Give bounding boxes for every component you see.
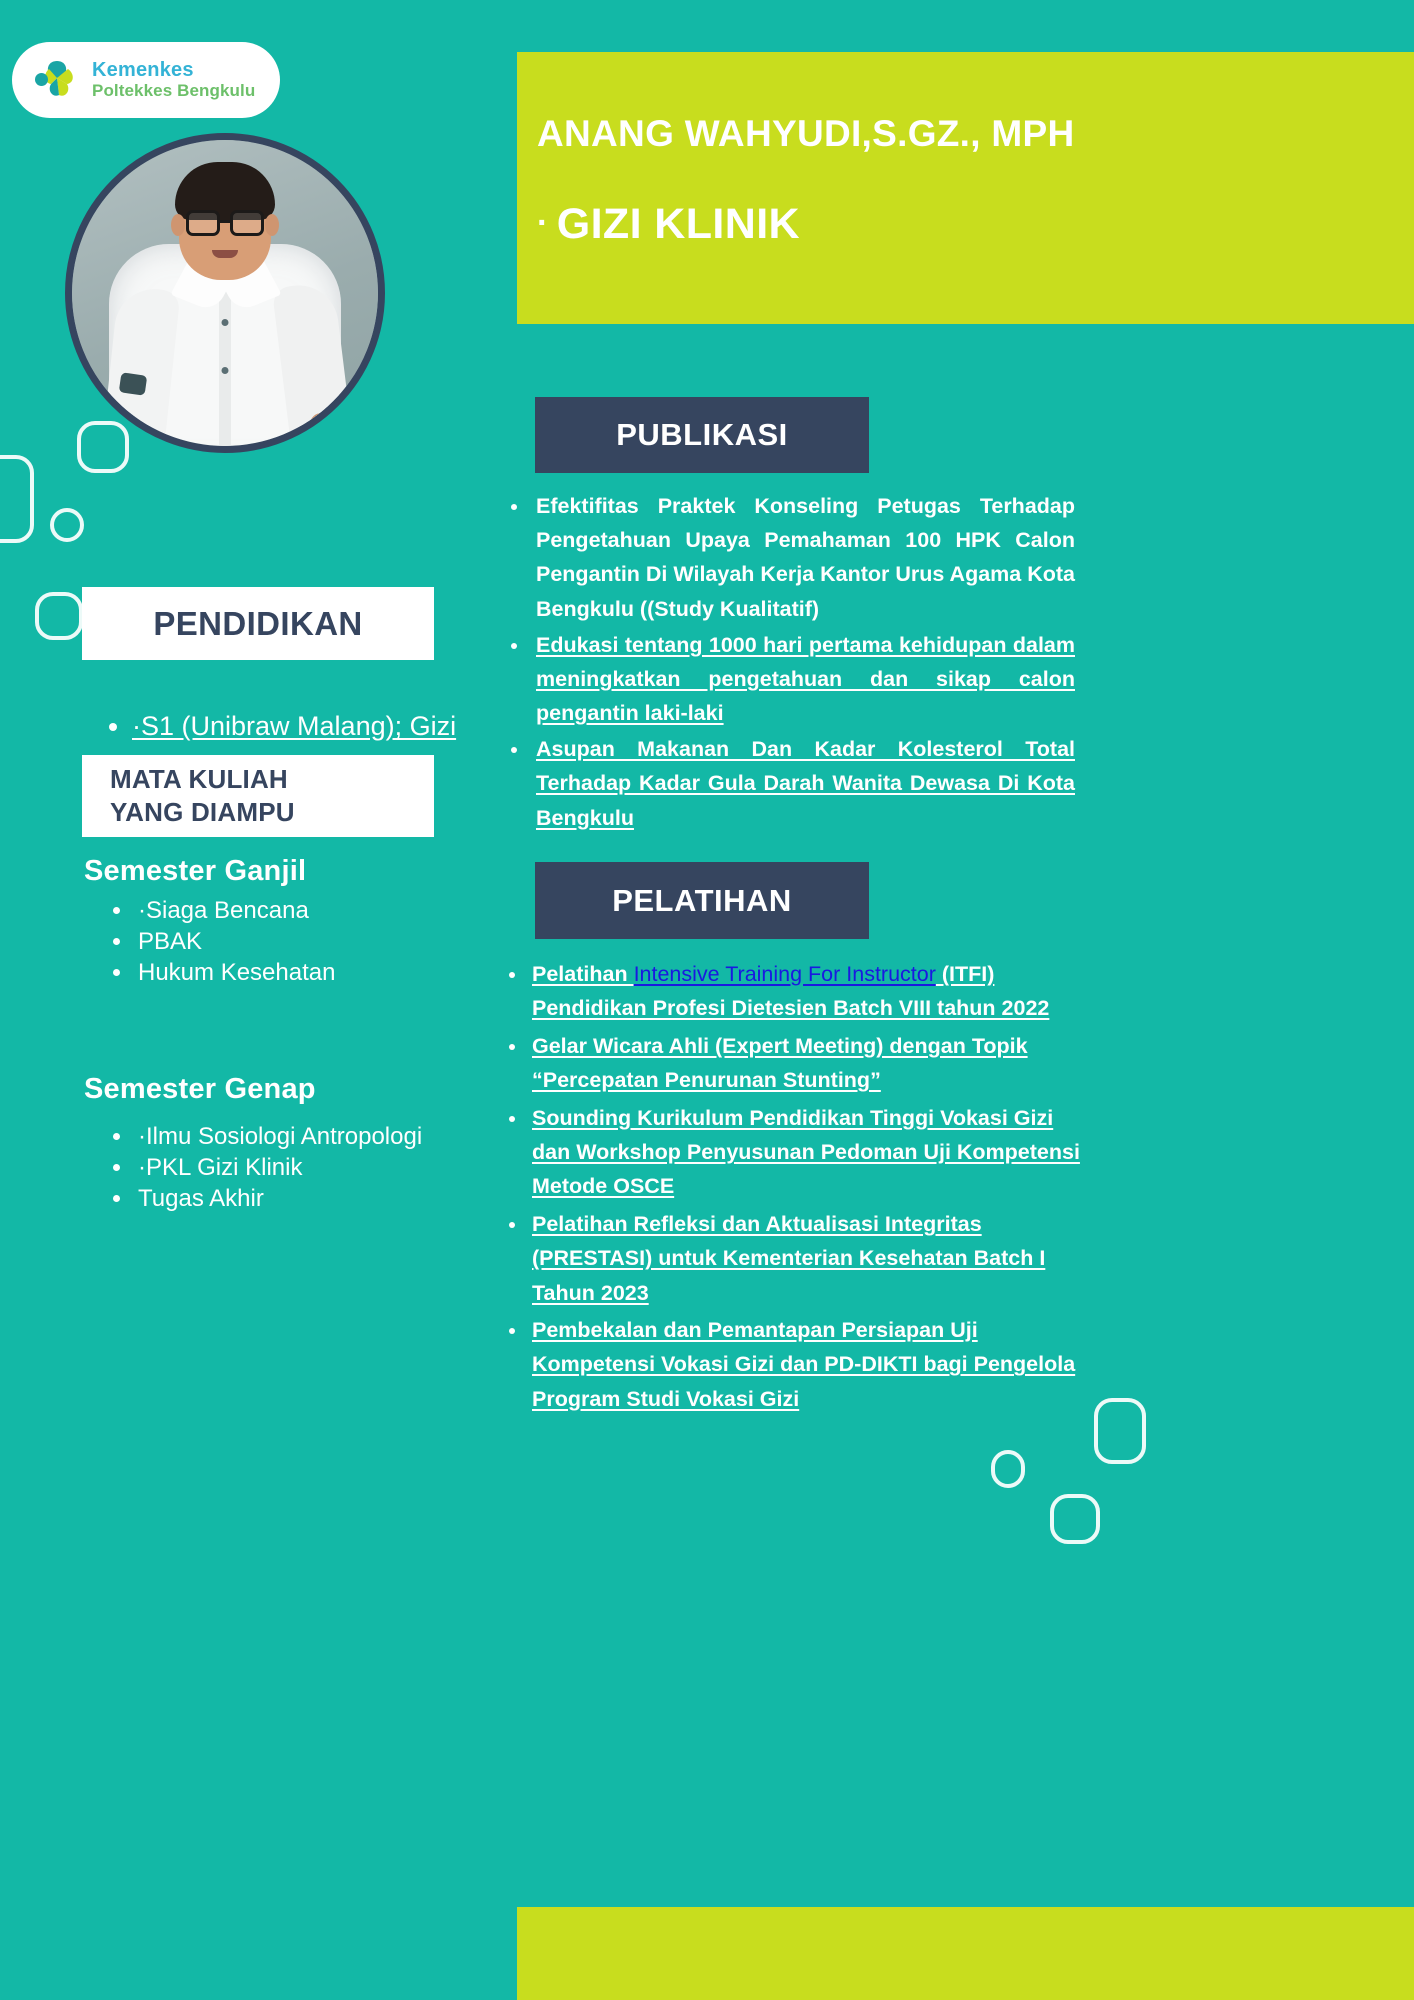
trainings-list: Pelatihan Intensive Training For Instruc… xyxy=(500,957,1090,1419)
list-item: ·Siaga Bencana xyxy=(134,896,504,927)
publikasi-label: PUBLIKASI xyxy=(616,417,788,453)
education-item-0: ·S1 (Unibraw Malang); Gizi xyxy=(132,711,456,741)
list-item: Pelatihan Intensive Training For Instruc… xyxy=(528,957,1090,1026)
semester-ganjil-label: Semester Ganjil xyxy=(84,855,306,888)
training-1-text: Gelar Wicara Ahli (Expert Meeting) denga… xyxy=(532,1034,1028,1092)
training-0-prefix: Pelatihan xyxy=(532,962,634,986)
section-title-publikasi: PUBLIKASI xyxy=(535,397,869,473)
decor-square-4 xyxy=(35,592,83,640)
list-item: ·PKL Gizi Klinik xyxy=(134,1153,504,1184)
institution-logo: Kemenkes Poltekkes Bengkulu xyxy=(12,42,280,118)
specialty-text: GIZI KLINIK xyxy=(557,200,800,248)
training-0-link[interactable]: Intensive Training For Instructor xyxy=(634,962,936,986)
semester-genap-list: ·Ilmu Sosiologi Antropologi ·PKL Gizi Kl… xyxy=(104,1122,504,1215)
training-4-text: Pembekalan dan Pemantapan Persiapan Uji … xyxy=(532,1318,1075,1411)
logo-line-1: Kemenkes xyxy=(92,60,255,82)
training-3-text: Pelatihan Refleksi dan Aktualisasi Integ… xyxy=(532,1212,1045,1305)
list-item: PBAK xyxy=(134,927,504,958)
person-name: ANANG WAHYUDI,S.GZ., MPH xyxy=(537,114,1374,155)
list-item: Efektifitas Praktek Konseling Petugas Te… xyxy=(530,489,1075,626)
pendidikan-label: PENDIDIKAN xyxy=(153,605,362,643)
avatar-image xyxy=(72,140,378,446)
list-item: ·S1 (Unibraw Malang); Gizi xyxy=(132,705,520,749)
semester-ganjil-list: ·Siaga Bencana PBAK Hukum Kesehatan xyxy=(104,896,504,989)
mata-kuliah-line-1: MATA KULIAH xyxy=(110,763,434,796)
logo-line-2: Poltekkes Bengkulu xyxy=(92,82,255,100)
bullet-glyph-icon: · xyxy=(537,204,549,242)
avatar xyxy=(65,133,385,453)
list-item: Hukum Kesehatan xyxy=(134,958,504,989)
section-title-pelatihan: PELATIHAN xyxy=(535,862,869,939)
decor-square-5 xyxy=(991,1450,1025,1488)
decor-square-6 xyxy=(1094,1398,1146,1464)
section-title-mata-kuliah: MATA KULIAH YANG DIAMPU xyxy=(82,755,434,837)
list-item: Pelatihan Refleksi dan Aktualisasi Integ… xyxy=(528,1207,1090,1310)
list-item: Gelar Wicara Ahli (Expert Meeting) denga… xyxy=(528,1029,1090,1098)
profile-poster: Kemenkes Poltekkes Bengkulu xyxy=(0,0,1414,2000)
section-title-pendidikan: PENDIDIKAN xyxy=(82,587,434,660)
pelatihan-label: PELATIHAN xyxy=(612,883,792,919)
training-2-text: Sounding Kurikulum Pendidikan Tinggi Vok… xyxy=(532,1106,1080,1199)
decor-square-7 xyxy=(1050,1494,1100,1544)
list-item: Tugas Akhir xyxy=(134,1184,504,1215)
kemenkes-clover-logo-icon xyxy=(34,57,80,103)
list-item: ·Ilmu Sosiologi Antropologi xyxy=(134,1122,504,1153)
mata-kuliah-line-2: YANG DIAMPU xyxy=(110,796,434,829)
list-item: Asupan Makanan Dan Kadar Kolesterol Tota… xyxy=(530,732,1075,835)
list-item: Pembekalan dan Pemantapan Persiapan Uji … xyxy=(528,1313,1090,1416)
semester-genap-label: Semester Genap xyxy=(84,1073,316,1106)
list-item: Sounding Kurikulum Pendidikan Tinggi Vok… xyxy=(528,1101,1090,1204)
publications-list: Efektifitas Praktek Konseling Petugas Te… xyxy=(500,489,1075,837)
bottom-accent-bar xyxy=(517,1907,1414,2000)
list-item: Edukasi tentang 1000 hari pertama kehidu… xyxy=(530,628,1075,731)
decor-square-3 xyxy=(50,508,84,542)
person-specialty: ·GIZI KLINIK xyxy=(537,201,1374,248)
decor-square-2 xyxy=(0,455,34,543)
name-banner: ANANG WAHYUDI,S.GZ., MPH ·GIZI KLINIK xyxy=(517,52,1414,324)
